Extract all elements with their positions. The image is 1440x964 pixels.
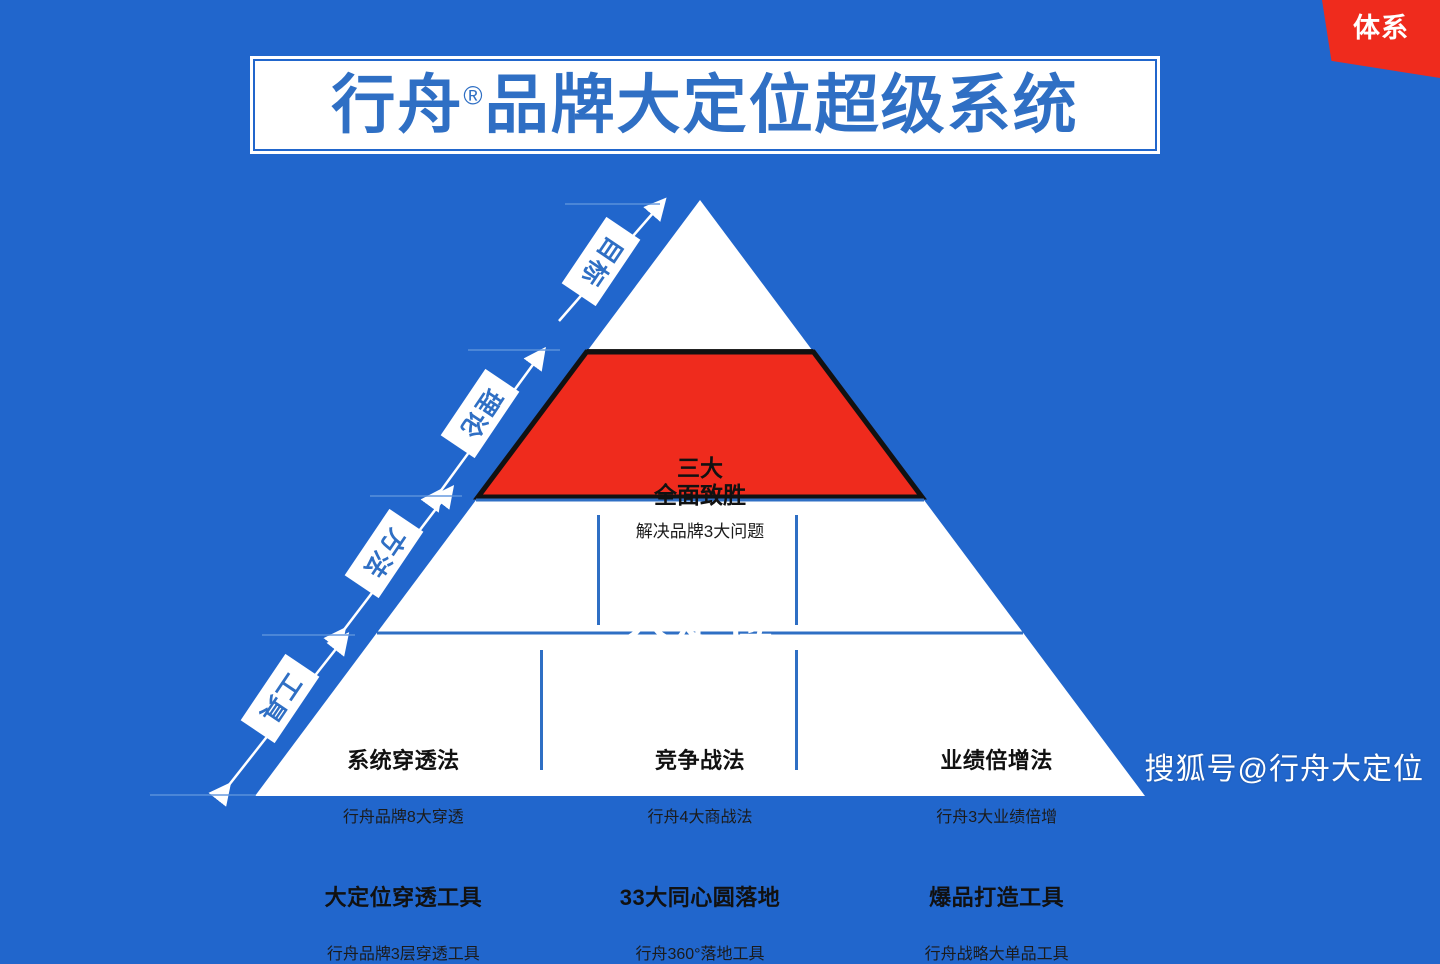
tier-goal-title: 三大 全面致胜 — [255, 455, 1145, 509]
tier-goal-title-line1: 三大 — [255, 455, 1145, 482]
title-suffix: 品牌大定位超级系统 — [485, 69, 1079, 141]
tier-tool-cell-1-subtitle: 行舟品牌3层穿透工具 — [255, 940, 552, 964]
tier-method-cell-3: 业绩倍增法 行舟3大业绩倍增 — [848, 743, 1145, 827]
tier-method-row: 系统穿透法 行舟品牌8大穿透 竞争战法 行舟4大商战法 业绩倍增法 行舟3大业绩… — [255, 743, 1145, 827]
corner-ribbon: 体系 — [1322, 0, 1440, 78]
tier-tool-cell-3: 爆品打造工具 行舟战略大单品工具 — [848, 880, 1145, 964]
title-banner: 行舟®品牌大定位超级系统 — [250, 56, 1160, 154]
slide-canvas: 体系 行舟®品牌大定位超级系统 三大 全面致胜 解决品牌3大问题 大定位 客户心… — [0, 0, 1440, 810]
tier-method-cell-3-subtitle: 行舟3大业绩倍增 — [848, 803, 1145, 827]
pyramid-diagram: 三大 全面致胜 解决品牌3大问题 大定位 客户心智穿透 系统穿透法 行舟品牌8大… — [255, 200, 1145, 796]
tier-method-cell-1: 系统穿透法 行舟品牌8大穿透 — [255, 743, 552, 827]
tier-theory-title: 大定位 — [255, 592, 1145, 647]
corner-ribbon-label: 体系 — [1353, 15, 1409, 42]
tier-tool-row: 大定位穿透工具 行舟品牌3层穿透工具 33大同心圆落地 行舟360°落地工具 爆… — [255, 880, 1145, 964]
tier-method-divider-1 — [597, 515, 600, 625]
tier-tool-cell-1-title: 大定位穿透工具 — [255, 880, 552, 912]
tier-method-divider-2 — [795, 515, 798, 625]
watermark: 搜狐号@行舟大定位 — [1145, 744, 1424, 788]
title-prefix: 行舟 — [331, 69, 463, 141]
tier-method-cell-2-title: 竞争战法 — [552, 743, 849, 775]
registered-mark-icon: ® — [463, 81, 484, 111]
tier-goal-title-line2: 全面致胜 — [255, 482, 1145, 509]
tier-theory-subtitle: 客户心智穿透 — [255, 655, 1145, 675]
tier-method-cell-2: 竞争战法 行舟4大商战法 — [552, 743, 849, 827]
tier-tool-divider-1 — [540, 650, 543, 770]
tier-tool-divider-2 — [795, 650, 798, 770]
tier-tool-cell-3-title: 爆品打造工具 — [848, 880, 1145, 912]
tier-tool-cell-2-title: 33大同心圆落地 — [552, 880, 849, 912]
tier-method-cell-1-subtitle: 行舟品牌8大穿透 — [255, 803, 552, 827]
tier-tool-cell-2-subtitle: 行舟360°落地工具 — [552, 940, 849, 964]
page-title: 行舟®品牌大定位超级系统 — [331, 73, 1078, 137]
tier-tool-cell-2: 33大同心圆落地 行舟360°落地工具 — [552, 880, 849, 964]
tier-method-cell-1-title: 系统穿透法 — [255, 743, 552, 775]
tier-method-cell-2-subtitle: 行舟4大商战法 — [552, 803, 849, 827]
tier-tool-cell-3-subtitle: 行舟战略大单品工具 — [848, 940, 1145, 964]
tier-tool-cell-1: 大定位穿透工具 行舟品牌3层穿透工具 — [255, 880, 552, 964]
tier-method-cell-3-title: 业绩倍增法 — [848, 743, 1145, 775]
